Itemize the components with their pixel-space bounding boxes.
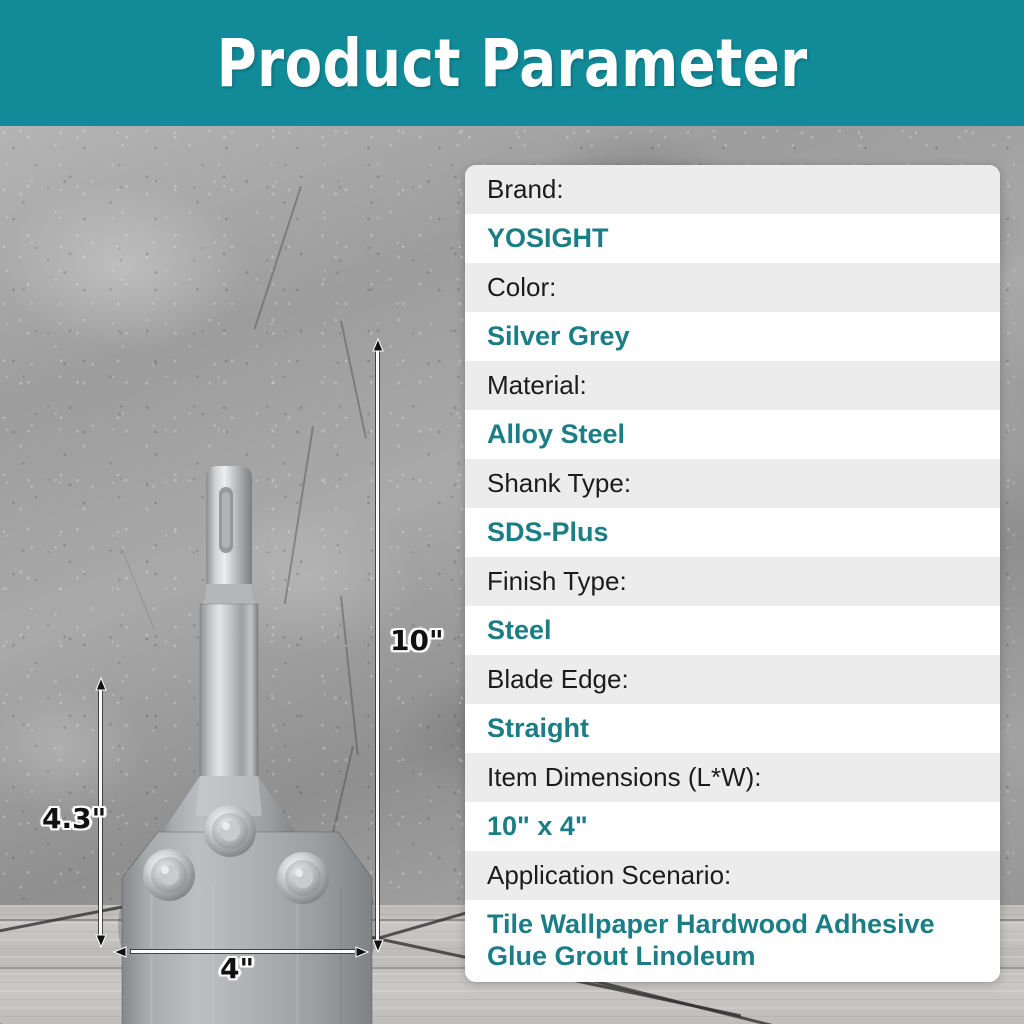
- spec-label-color: Color:: [465, 263, 1000, 312]
- dimension-label-blade-height: 4.3": [42, 802, 106, 835]
- spec-value-shank-type: SDS-Plus: [465, 508, 1000, 557]
- wall-crack: [254, 186, 302, 329]
- dimension-line-length: [376, 347, 379, 945]
- specification-table: Brand: YOSIGHT Color: Silver Grey Materi…: [465, 165, 1000, 982]
- dimension-arrow-left: [112, 942, 132, 962]
- spec-value-blade-edge: Straight: [465, 704, 1000, 753]
- wall-crack: [284, 426, 314, 604]
- dimension-label-blade-width: 4": [220, 952, 254, 985]
- floor-grout-line: [0, 905, 373, 940]
- spec-label-shank-type: Shank Type:: [465, 459, 1000, 508]
- spec-label-application-scenario: Application Scenario:: [465, 851, 1000, 900]
- spec-value-brand: YOSIGHT: [465, 214, 1000, 263]
- floor-grout-line: [0, 1013, 196, 1024]
- spec-value-item-dimensions: 10" x 4": [465, 802, 1000, 851]
- dimension-label-length: 10": [390, 624, 444, 657]
- wall-crack: [340, 321, 367, 439]
- spec-label-finish-type: Finish Type:: [465, 557, 1000, 606]
- wall-crack: [321, 746, 354, 883]
- page-title: Product Parameter: [216, 25, 807, 102]
- spec-label-material: Material:: [465, 361, 1000, 410]
- wall-crack: [120, 546, 155, 630]
- spec-label-brand: Brand:: [465, 165, 1000, 214]
- spec-value-finish-type: Steel: [465, 606, 1000, 655]
- dimension-arrow-up: [91, 677, 111, 697]
- spec-value-color: Silver Grey: [465, 312, 1000, 361]
- dimension-arrow-up: [368, 338, 388, 358]
- spec-label-item-dimensions: Item Dimensions (L*W):: [465, 753, 1000, 802]
- header-banner: Product Parameter: [0, 0, 1024, 126]
- wall-crack: [340, 596, 359, 755]
- dimension-arrow-right: [350, 942, 370, 962]
- spec-value-application-scenario: Tile Wallpaper Hardwood Adhesive Glue Gr…: [465, 900, 1000, 982]
- dimension-arrow-down: [91, 929, 111, 949]
- spec-value-material: Alloy Steel: [465, 410, 1000, 459]
- spec-label-blade-edge: Blade Edge:: [465, 655, 1000, 704]
- dimension-arrow-down: [368, 934, 388, 954]
- product-parameter-infographic: Product Parameter: [0, 0, 1024, 1024]
